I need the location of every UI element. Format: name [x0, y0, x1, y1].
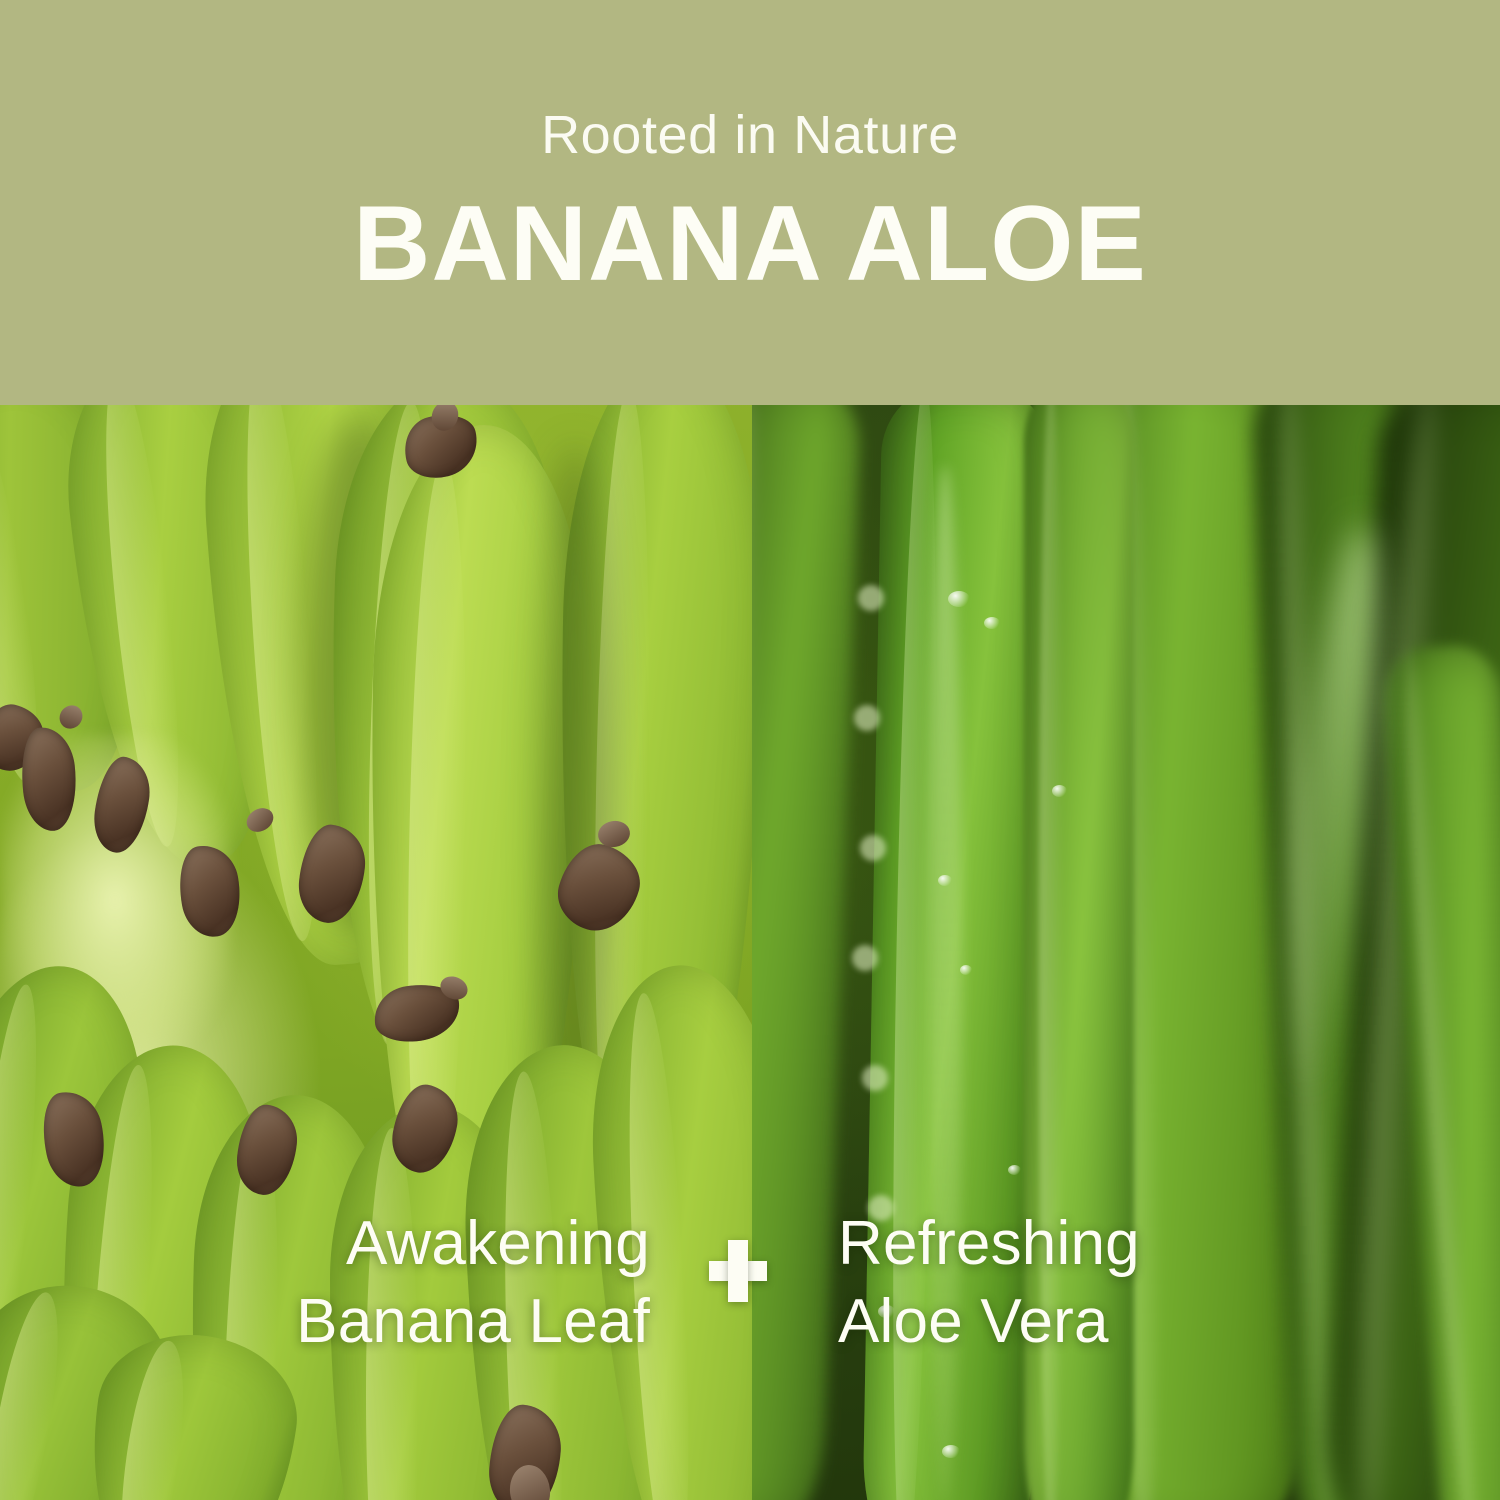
product-ingredient-poster: Rooted in Nature BANANA ALOE [0, 0, 1500, 1500]
caption-right-line2: Aloe Vera [838, 1283, 1438, 1361]
caption-left: Awakening Banana Leaf [60, 1205, 650, 1361]
page-title: BANANA ALOE [0, 186, 1500, 302]
aloe-leaf-serration [860, 835, 886, 861]
plus-icon [709, 1240, 767, 1302]
eyebrow-text: Rooted in Nature [0, 108, 1500, 162]
aloe-leaf-serration [858, 585, 884, 611]
header-banner: Rooted in Nature BANANA ALOE [0, 0, 1500, 405]
aloe-leaf-serration [862, 1065, 888, 1091]
water-droplet [948, 591, 970, 607]
caption-left-line2: Banana Leaf [60, 1283, 650, 1361]
water-droplet [1008, 1165, 1021, 1175]
water-droplet [1052, 785, 1067, 797]
plus-icon-vertical-bar [728, 1240, 748, 1302]
aloe-leaf-serration [854, 705, 880, 731]
caption-right-line1: Refreshing [838, 1205, 1438, 1283]
caption-left-line1: Awakening [60, 1205, 650, 1283]
water-droplet [942, 1445, 960, 1458]
water-droplet [938, 875, 952, 886]
water-droplet [960, 965, 972, 975]
water-droplet [984, 617, 1000, 629]
caption-right: Refreshing Aloe Vera [838, 1205, 1438, 1361]
aloe-leaf-serration [852, 945, 878, 971]
